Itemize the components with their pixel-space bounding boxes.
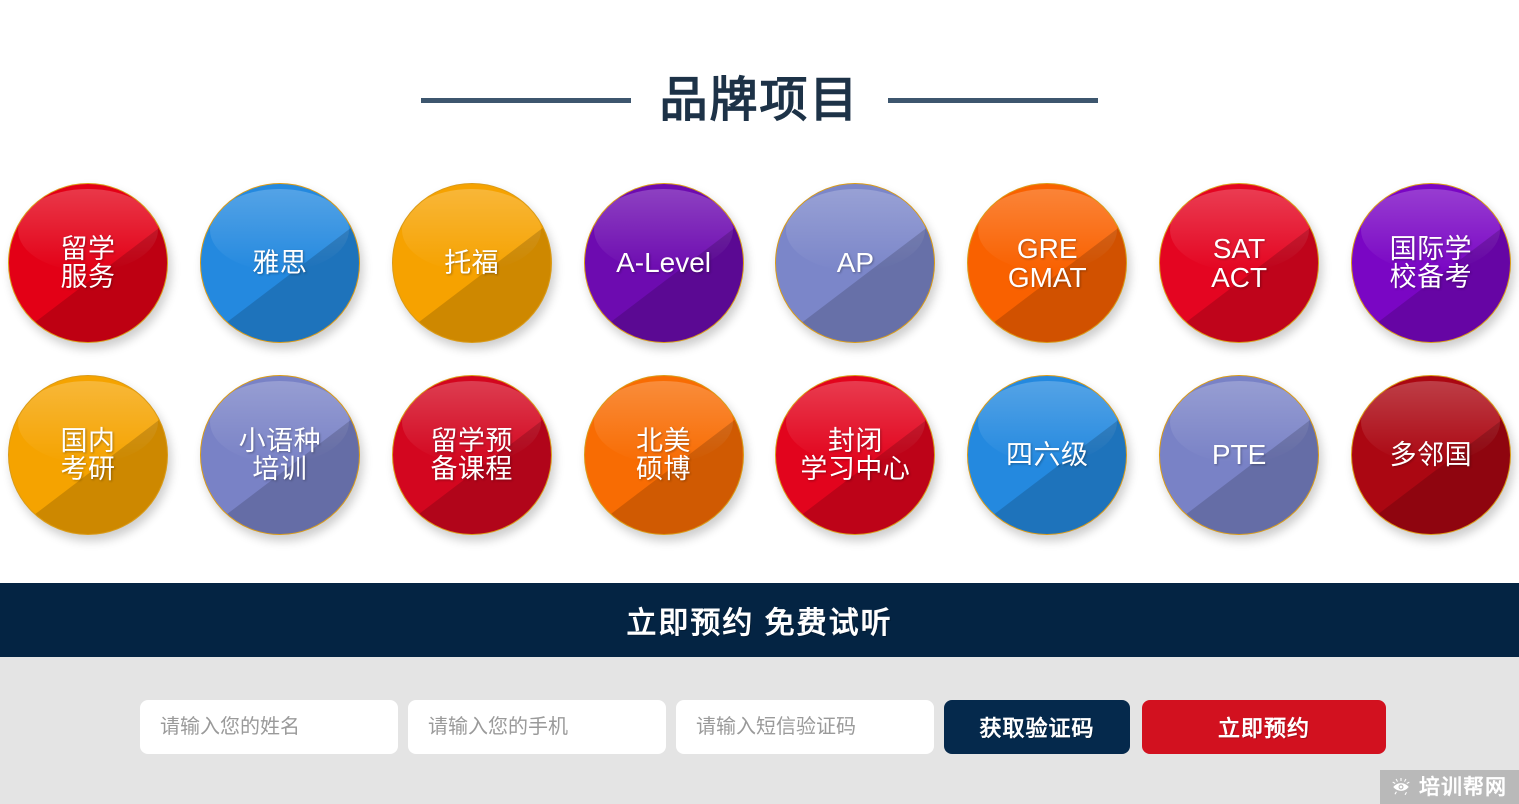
program-label: 国内考研 [55, 427, 122, 483]
program-bubble-sat-act[interactable]: SATACT [1159, 183, 1319, 343]
program-label-line: GRE [1008, 234, 1087, 263]
program-bubble-siliuji[interactable]: 四六级 [967, 375, 1127, 535]
program-label-line: PTE [1212, 440, 1266, 469]
program-label-line: 小语种 [239, 427, 322, 455]
program-grid: 留学服务雅思托福A-LevelAPGREGMATSATACT国际学校备考 国内考… [0, 183, 1519, 535]
booking-form: 获取验证码 立即预约 [140, 700, 1386, 754]
get-sms-code-button[interactable]: 获取验证码 [944, 700, 1130, 754]
program-label: 留学服务 [55, 235, 122, 291]
program-label-line: 多邻国 [1390, 441, 1473, 469]
program-label-line: 留学预 [430, 427, 513, 455]
program-label-line: ACT [1211, 263, 1267, 292]
program-label-line: 雅思 [252, 249, 307, 277]
cta-banner: 立即预约 免费试听 [0, 583, 1519, 657]
program-label-line: 国际学 [1390, 235, 1473, 263]
submit-booking-button[interactable]: 立即预约 [1142, 700, 1386, 754]
program-row-2: 国内考研小语种培训留学预备课程北美硕博封闭学习中心四六级PTE多邻国 [8, 375, 1511, 535]
program-label-line: GMAT [1008, 263, 1087, 292]
program-label-line: 北美 [636, 427, 691, 455]
program-bubble-fengbi-zhongxin[interactable]: 封闭学习中心 [775, 375, 935, 535]
booking-form-strip: 获取验证码 立即预约 [0, 657, 1519, 804]
cta-headline: 立即预约 免费试听 [626, 598, 892, 642]
program-label-line: A-Level [616, 248, 711, 277]
program-label: 多邻国 [1384, 441, 1479, 469]
program-bubble-ap[interactable]: AP [775, 183, 935, 343]
program-label: 托福 [438, 249, 505, 277]
program-label-line: 考研 [61, 455, 116, 483]
program-bubble-pte[interactable]: PTE [1159, 375, 1319, 535]
program-label: SATACT [1205, 234, 1273, 292]
program-label-line: 国内 [61, 427, 116, 455]
program-bubble-beimei-shuobo[interactable]: 北美硕博 [584, 375, 744, 535]
program-bubble-duolingguo[interactable]: 多邻国 [1351, 375, 1511, 535]
phone-input[interactable] [408, 700, 666, 754]
name-input[interactable] [140, 700, 398, 754]
program-label: A-Level [610, 248, 717, 277]
program-label: PTE [1206, 440, 1272, 469]
program-label: GREGMAT [1002, 234, 1093, 292]
program-bubble-guoji-xuexiao[interactable]: 国际学校备考 [1351, 183, 1511, 343]
program-label-line: AP [837, 248, 874, 277]
program-bubble-guonei-kaoyan[interactable]: 国内考研 [8, 375, 168, 535]
page-title: 品牌项目 [659, 77, 859, 125]
program-bubble-yasi[interactable]: 雅思 [200, 183, 360, 343]
program-bubble-xiaoyuzhong[interactable]: 小语种培训 [200, 375, 360, 535]
sms-code-input[interactable] [676, 700, 934, 754]
program-bubble-gre-gmat[interactable]: GREGMAT [967, 183, 1127, 343]
program-label-line: 封闭 [800, 427, 910, 455]
program-label-line: 留学 [61, 235, 116, 263]
program-label: 国际学校备考 [1384, 235, 1479, 291]
program-bubble-liuxue-yubei[interactable]: 留学预备课程 [392, 375, 552, 535]
program-label-line: 硕博 [636, 455, 691, 483]
watermark-label: 培训帮网 [1419, 777, 1507, 798]
program-label: 封闭学习中心 [794, 427, 916, 483]
program-bubble-tuofu[interactable]: 托福 [392, 183, 552, 343]
program-label-line: 四六级 [1006, 441, 1089, 469]
program-label-line: 备课程 [430, 455, 513, 483]
program-label-line: 培训 [239, 455, 322, 483]
title-rule-left [421, 98, 631, 103]
program-label: 小语种培训 [233, 427, 328, 483]
eye-sun-icon [1390, 776, 1412, 798]
program-bubble-a-level[interactable]: A-Level [584, 183, 744, 343]
program-label: AP [831, 248, 880, 277]
program-label: 留学预备课程 [424, 427, 519, 483]
title-rule-right [888, 98, 1098, 103]
program-row-1: 留学服务雅思托福A-LevelAPGREGMATSATACT国际学校备考 [8, 183, 1511, 343]
program-label-line: 服务 [61, 263, 116, 291]
program-label: 北美硕博 [630, 427, 697, 483]
program-label-line: 学习中心 [800, 455, 910, 483]
program-label-line: 托福 [444, 249, 499, 277]
page-header: 品牌项目 [0, 0, 1519, 183]
program-label-line: 校备考 [1390, 263, 1473, 291]
program-label: 雅思 [246, 249, 313, 277]
program-bubble-liuxue-fuwu[interactable]: 留学服务 [8, 183, 168, 343]
program-label-line: SAT [1211, 234, 1267, 263]
site-watermark: 培训帮网 [1380, 770, 1519, 804]
program-label: 四六级 [1000, 441, 1095, 469]
